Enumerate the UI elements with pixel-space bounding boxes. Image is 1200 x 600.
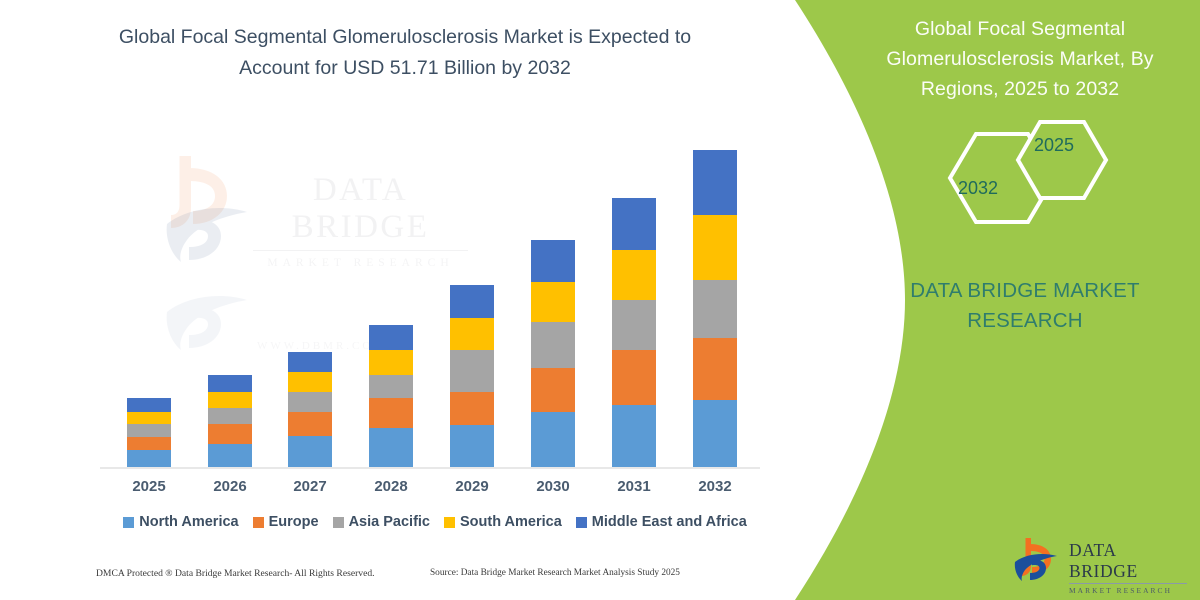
bar-segment-2026-north-america bbox=[208, 444, 252, 467]
x-axis-label-2029: 2029 bbox=[437, 478, 507, 495]
hexagon-2025-label: 2025 bbox=[1034, 135, 1074, 156]
dbmr-logo: DATA BRIDGE MARKET RESEARCH bbox=[1013, 534, 1189, 586]
bar-2032 bbox=[693, 150, 737, 467]
hexagon-pair bbox=[928, 118, 1128, 236]
x-axis-line bbox=[100, 467, 760, 469]
bar-segment-2029-middle-east-and-africa bbox=[450, 285, 494, 318]
legend-item-asia-pacific[interactable]: Asia Pacific bbox=[333, 514, 430, 530]
bar-segment-2032-europe bbox=[693, 338, 737, 400]
legend-label: Middle East and Africa bbox=[592, 514, 747, 530]
bar-segment-2030-middle-east-and-africa bbox=[531, 240, 575, 282]
legend-item-middle-east-and-africa[interactable]: Middle East and Africa bbox=[576, 514, 747, 530]
bar-segment-2031-south-america bbox=[612, 250, 656, 300]
bar-2031 bbox=[612, 198, 656, 467]
bar-segment-2031-asia-pacific bbox=[612, 300, 656, 350]
bar-segment-2028-middle-east-and-africa bbox=[369, 325, 413, 350]
bar-segment-2032-middle-east-and-africa bbox=[693, 150, 737, 215]
x-axis-label-2031: 2031 bbox=[599, 478, 669, 495]
legend-swatch-icon bbox=[576, 517, 587, 528]
bar-segment-2028-europe bbox=[369, 398, 413, 428]
logo-name-line1: DATA BRIDGE bbox=[1069, 540, 1189, 582]
legend-label: Europe bbox=[269, 514, 319, 530]
legend-swatch-icon bbox=[333, 517, 344, 528]
bar-segment-2027-europe bbox=[288, 412, 332, 436]
bar-segment-2028-asia-pacific bbox=[369, 375, 413, 398]
bar-2030 bbox=[531, 240, 575, 467]
legend-item-south-america[interactable]: South America bbox=[444, 514, 562, 530]
footer-copyright: DMCA Protected ® Data Bridge Market Rese… bbox=[96, 568, 375, 579]
bar-segment-2028-north-america bbox=[369, 428, 413, 467]
legend-label: South America bbox=[460, 514, 562, 530]
bar-2029 bbox=[450, 285, 494, 467]
bar-2026 bbox=[208, 375, 252, 467]
bar-segment-2028-south-america bbox=[369, 350, 413, 375]
infographic-root: Global Focal Segmental Glomerulosclerosi… bbox=[0, 0, 1200, 600]
bar-2028 bbox=[369, 325, 413, 467]
chart-legend: North AmericaEuropeAsia PacificSouth Ame… bbox=[100, 514, 770, 530]
bar-segment-2026-middle-east-and-africa bbox=[208, 375, 252, 392]
legend-label: North America bbox=[139, 514, 238, 530]
bar-segment-2027-south-america bbox=[288, 372, 332, 392]
legend-item-europe[interactable]: Europe bbox=[253, 514, 319, 530]
bar-segment-2027-middle-east-and-africa bbox=[288, 352, 332, 372]
bar-segment-2027-north-america bbox=[288, 436, 332, 467]
bar-segment-2026-asia-pacific bbox=[208, 408, 252, 424]
x-axis-label-2025: 2025 bbox=[114, 478, 184, 495]
legend-label: Asia Pacific bbox=[349, 514, 430, 530]
bar-segment-2030-north-america bbox=[531, 412, 575, 467]
dbmr-b-logo-icon bbox=[1013, 536, 1065, 584]
bar-segment-2026-south-america bbox=[208, 392, 252, 408]
bar-2027 bbox=[288, 352, 332, 467]
bar-segment-2032-south-america bbox=[693, 215, 737, 280]
bar-segment-2031-north-america bbox=[612, 405, 656, 467]
x-axis-label-2030: 2030 bbox=[518, 478, 588, 495]
bar-segment-2032-north-america bbox=[693, 400, 737, 467]
logo-divider bbox=[1069, 583, 1187, 584]
bar-segment-2029-north-america bbox=[450, 425, 494, 467]
bar-segment-2032-asia-pacific bbox=[693, 280, 737, 338]
legend-swatch-icon bbox=[253, 517, 264, 528]
bar-segment-2031-middle-east-and-africa bbox=[612, 198, 656, 250]
bar-segment-2025-europe bbox=[127, 437, 171, 450]
legend-swatch-icon bbox=[444, 517, 455, 528]
bar-segment-2029-asia-pacific bbox=[450, 350, 494, 392]
bar-segment-2030-south-america bbox=[531, 282, 575, 322]
x-axis-label-2032: 2032 bbox=[680, 478, 750, 495]
bar-2025 bbox=[127, 398, 171, 467]
panel-brand-text: DATA BRIDGE MARKET RESEARCH bbox=[880, 276, 1170, 336]
footer-source: Source: Data Bridge Market Research Mark… bbox=[430, 568, 680, 578]
bar-segment-2025-north-america bbox=[127, 450, 171, 467]
hexagon-2032-label: 2032 bbox=[958, 178, 998, 199]
green-panel-content: Global Focal Segmental Glomerulosclerosi… bbox=[700, 0, 1200, 600]
bar-segment-2031-europe bbox=[612, 350, 656, 405]
chart-title: Global Focal Segmental Glomerulosclerosi… bbox=[95, 22, 715, 84]
bar-chart-plot bbox=[100, 140, 760, 470]
logo-name-line2: MARKET RESEARCH bbox=[1069, 586, 1189, 595]
hexagon-2025-shape bbox=[1018, 122, 1106, 198]
bar-segment-2030-asia-pacific bbox=[531, 322, 575, 368]
x-axis-label-2028: 2028 bbox=[356, 478, 426, 495]
bar-segment-2025-middle-east-and-africa bbox=[127, 398, 171, 412]
x-axis-label-2027: 2027 bbox=[275, 478, 345, 495]
bar-segment-2025-asia-pacific bbox=[127, 424, 171, 437]
dbmr-logo-text: DATA BRIDGE MARKET RESEARCH bbox=[1069, 540, 1189, 595]
bar-segment-2029-south-america bbox=[450, 318, 494, 350]
bar-segment-2026-europe bbox=[208, 424, 252, 444]
bar-segment-2027-asia-pacific bbox=[288, 392, 332, 412]
panel-title: Global Focal Segmental Glomerulosclerosi… bbox=[860, 14, 1180, 104]
x-axis-labels: 20252026202720282029203020312032 bbox=[100, 478, 760, 500]
legend-swatch-icon bbox=[123, 517, 134, 528]
bar-segment-2029-europe bbox=[450, 392, 494, 425]
footer: DMCA Protected ® Data Bridge Market Rese… bbox=[0, 568, 790, 588]
legend-item-north-america[interactable]: North America bbox=[123, 514, 238, 530]
bar-segment-2030-europe bbox=[531, 368, 575, 412]
x-axis-label-2026: 2026 bbox=[195, 478, 265, 495]
bar-segment-2025-south-america bbox=[127, 412, 171, 424]
